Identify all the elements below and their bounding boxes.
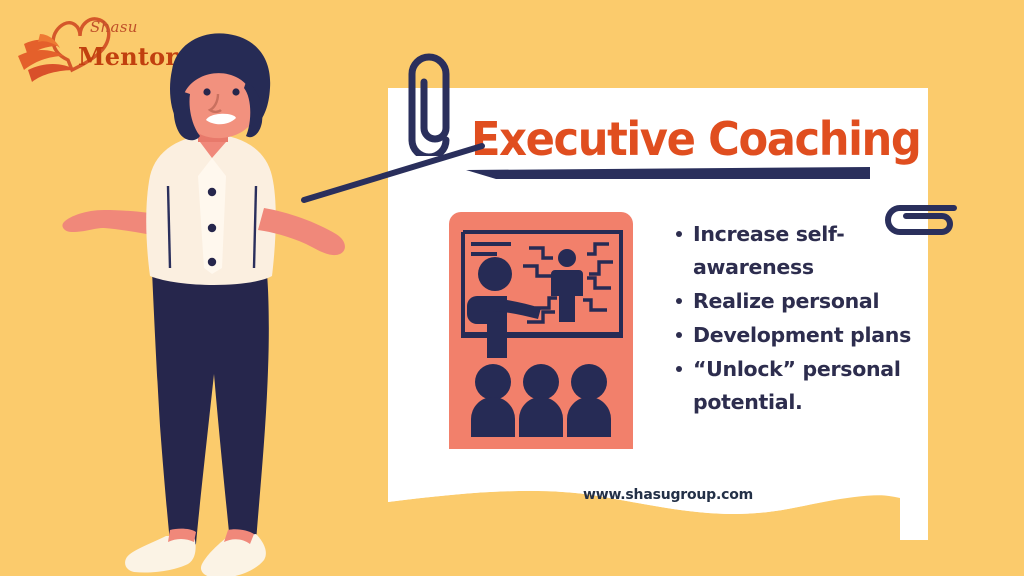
audience-figure-center xyxy=(519,364,563,449)
website-url[interactable]: www.shasugroup.com xyxy=(583,487,753,503)
coaching-presentation-illustration xyxy=(449,212,633,449)
eye xyxy=(232,88,239,95)
navy-trousers xyxy=(152,266,269,550)
shirt-button xyxy=(208,258,216,266)
woman-presenter xyxy=(60,30,420,576)
audience-figure-right xyxy=(567,364,611,449)
paperclip-icon xyxy=(884,192,958,252)
shirt-button xyxy=(208,188,216,196)
list-item: Development plans xyxy=(672,319,922,352)
eye xyxy=(203,88,210,95)
shirt-button xyxy=(208,224,216,232)
list-item: Realize personal xyxy=(672,285,922,318)
head xyxy=(170,33,270,140)
cream-button-shirt xyxy=(146,134,276,285)
title-underline xyxy=(466,166,870,184)
list-item: “Unlock” personal potential. xyxy=(672,353,922,419)
page-title: Executive Coaching xyxy=(471,112,920,166)
poster-canvas: Shasu Mentor Executive Coaching xyxy=(0,0,1024,576)
audience-figure-left xyxy=(471,364,515,449)
